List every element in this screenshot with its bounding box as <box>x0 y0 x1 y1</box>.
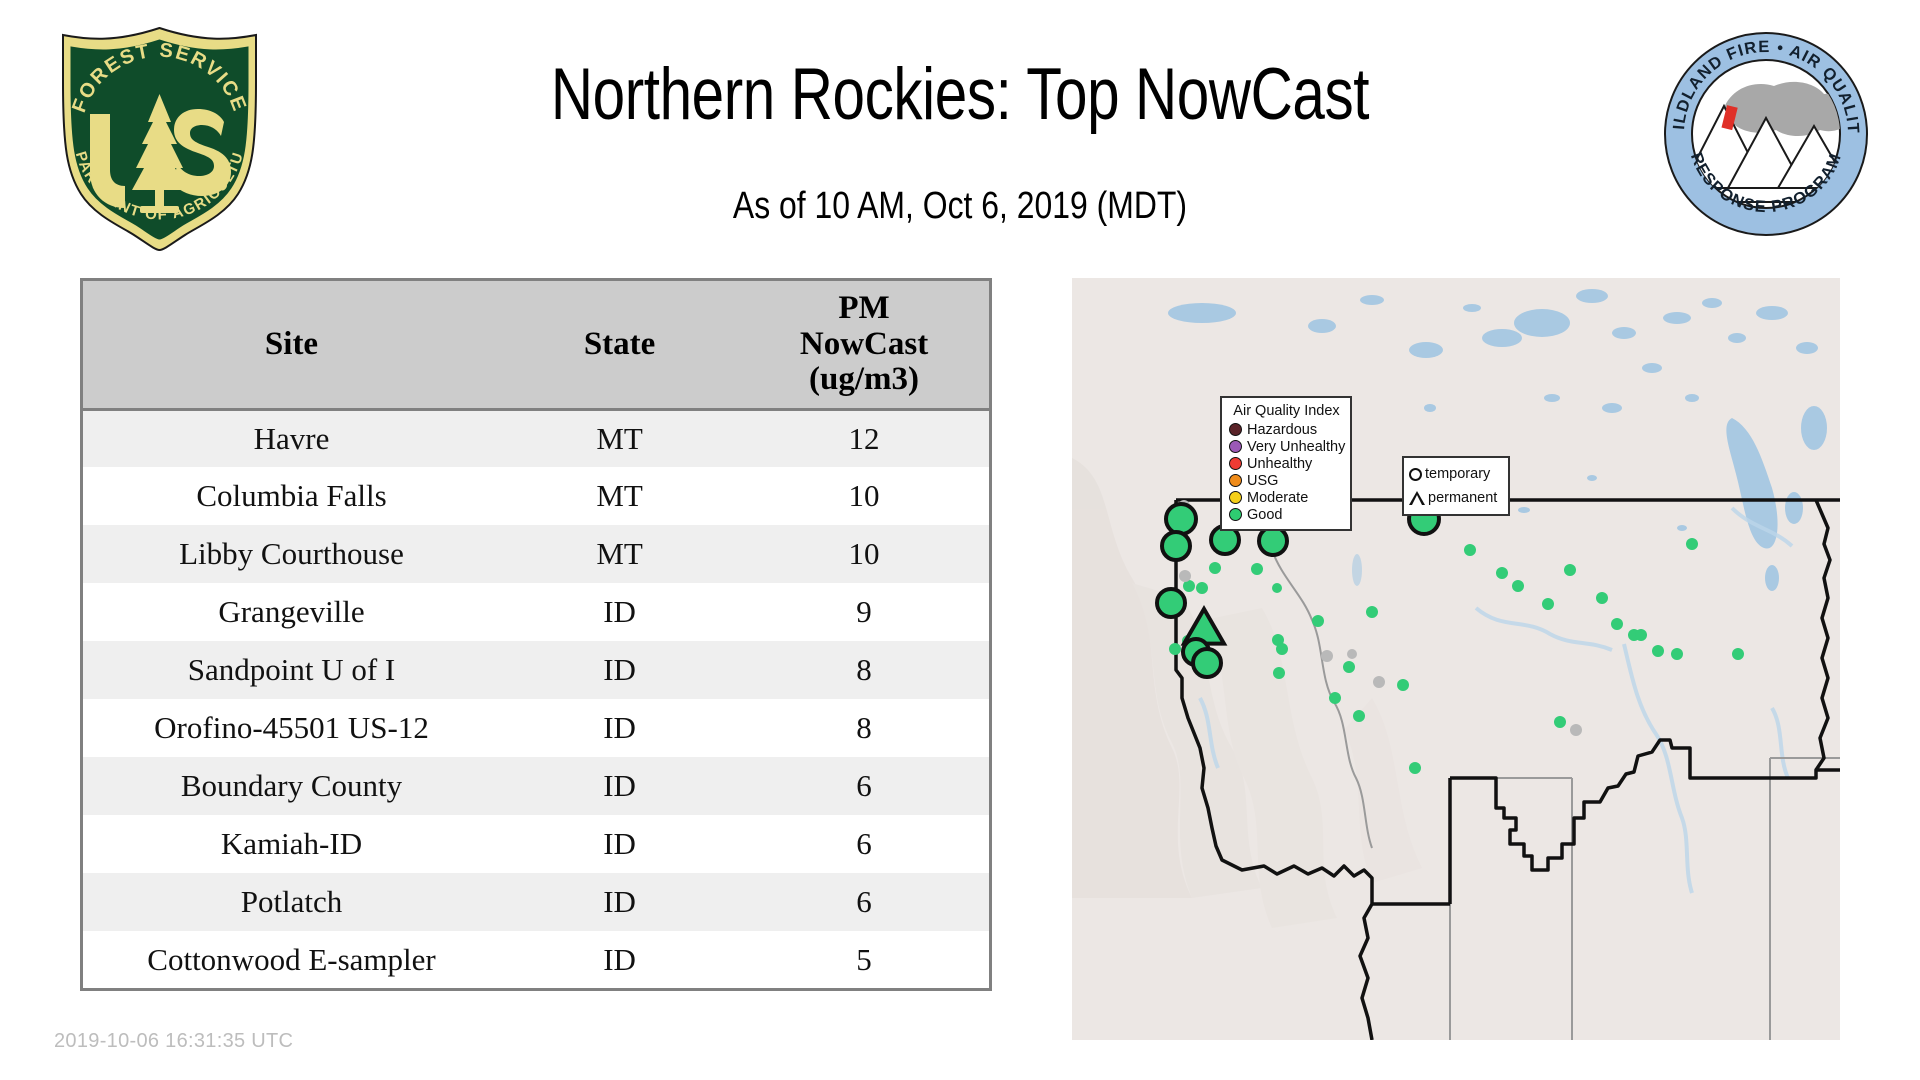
monitor-dot[interactable] <box>1397 679 1409 691</box>
aqi-legend-label: Very Unhealthy <box>1247 439 1345 455</box>
monitor-dot[interactable] <box>1512 580 1524 592</box>
legend-row-permanent: permanent <box>1409 486 1503 510</box>
permanent-monitor-icon <box>1409 491 1425 505</box>
cell-pm-nowcast: 8 <box>739 641 990 699</box>
monitor-dot[interactable] <box>1596 592 1608 604</box>
table-row[interactable]: Boundary CountyID6 <box>82 757 991 815</box>
legend-label-permanent: permanent <box>1428 490 1497 506</box>
monitor-dot[interactable] <box>1343 661 1355 673</box>
legend-row-temporary: temporary <box>1409 462 1503 486</box>
monitor-dot[interactable] <box>1732 648 1744 660</box>
monitor-type-legend: temporary permanent <box>1402 456 1510 516</box>
page-title: Northern Rockies: Top NowCast <box>432 58 1488 132</box>
temporary-monitor-marker[interactable] <box>1259 527 1287 555</box>
aqi-legend-row: Very Unhealthy <box>1229 438 1344 455</box>
aqi-legend-row: Unhealthy <box>1229 455 1344 472</box>
cell-state: ID <box>500 815 739 873</box>
cell-pm-nowcast: 10 <box>739 467 990 525</box>
us-forest-service-shield-logo: FOREST SERVICE DEPARTMENT OF AGRICULTURE <box>52 22 267 254</box>
cell-pm-nowcast: 5 <box>739 931 990 989</box>
monitor-map[interactable]: Air Quality Index HazardousVery Unhealth… <box>1072 278 1840 1040</box>
monitor-dot[interactable] <box>1196 582 1208 594</box>
cell-pm-nowcast: 6 <box>739 757 990 815</box>
temporary-monitor-marker[interactable] <box>1193 649 1221 677</box>
column-header-pm-nowcast[interactable]: PM NowCast (ug/m3) <box>739 280 990 410</box>
monitor-dot[interactable] <box>1273 667 1285 679</box>
aqi-legend-label: Unhealthy <box>1247 456 1312 472</box>
monitor-dot[interactable] <box>1373 676 1385 688</box>
cell-site: Grangeville <box>82 583 501 641</box>
monitor-dot[interactable] <box>1321 650 1333 662</box>
cell-pm-nowcast: 8 <box>739 699 990 757</box>
cell-site: Havre <box>82 409 501 467</box>
aqi-legend-label: USG <box>1247 473 1278 489</box>
monitor-dot[interactable] <box>1542 598 1554 610</box>
table-row[interactable]: Kamiah-IDID6 <box>82 815 991 873</box>
aqi-legend-label: Hazardous <box>1247 422 1317 438</box>
table-row[interactable]: Orofino-45501 US-12ID8 <box>82 699 991 757</box>
cell-site: Sandpoint U of I <box>82 641 501 699</box>
table-row[interactable]: Sandpoint U of IID8 <box>82 641 991 699</box>
monitor-dot[interactable] <box>1366 606 1378 618</box>
aqi-legend-title: Air Quality Index <box>1229 403 1344 419</box>
temporary-monitor-marker[interactable] <box>1166 504 1196 534</box>
column-header-site[interactable]: Site <box>82 280 501 410</box>
cell-site: Kamiah-ID <box>82 815 501 873</box>
generated-timestamp: 2019-10-06 16:31:35 UTC <box>54 1030 293 1053</box>
table-row[interactable]: PotlatchID6 <box>82 873 991 931</box>
monitor-dot[interactable] <box>1554 716 1566 728</box>
aqi-swatch-icon <box>1229 474 1242 487</box>
cell-state: MT <box>500 467 739 525</box>
slide-canvas: FOREST SERVICE DEPARTMENT OF AGRICULTURE… <box>0 0 1920 1080</box>
monitor-dot[interactable] <box>1353 710 1365 722</box>
table-body: HavreMT12Columbia FallsMT10Libby Courtho… <box>82 409 991 989</box>
cell-state: ID <box>500 873 739 931</box>
cell-state: MT <box>500 525 739 583</box>
page-subtitle: As of 10 AM, Oct 6, 2019 (MDT) <box>406 185 1515 228</box>
monitor-dot[interactable] <box>1611 618 1623 630</box>
column-header-pm-line1: PM <box>838 290 889 326</box>
monitor-dot[interactable] <box>1276 643 1288 655</box>
table-row[interactable]: Libby CourthouseMT10 <box>82 525 991 583</box>
cell-site: Columbia Falls <box>82 467 501 525</box>
aqi-legend-row: Good <box>1229 506 1344 523</box>
monitor-dot[interactable] <box>1329 692 1341 704</box>
monitor-dot[interactable] <box>1312 615 1324 627</box>
monitor-dot[interactable] <box>1686 538 1698 550</box>
legend-label-temporary: temporary <box>1425 466 1490 482</box>
table-row[interactable]: HavreMT12 <box>82 409 991 467</box>
top-nowcast-table: Site State PM NowCast (ug/m3) HavreMT12C… <box>80 278 992 991</box>
cell-site: Libby Courthouse <box>82 525 501 583</box>
table-header-row: Site State PM NowCast (ug/m3) <box>82 280 991 410</box>
table-row[interactable]: Columbia FallsMT10 <box>82 467 991 525</box>
aqi-legend-row: Hazardous <box>1229 421 1344 438</box>
aqi-swatch-icon <box>1229 440 1242 453</box>
table-row[interactable]: Cottonwood E-samplerID5 <box>82 931 991 989</box>
monitor-dot[interactable] <box>1671 648 1683 660</box>
monitor-dot[interactable] <box>1347 649 1357 659</box>
temporary-monitor-marker[interactable] <box>1162 532 1190 560</box>
temporary-monitor-marker[interactable] <box>1157 589 1185 617</box>
monitor-dot[interactable] <box>1169 643 1181 655</box>
cell-pm-nowcast: 6 <box>739 815 990 873</box>
cell-state: ID <box>500 583 739 641</box>
aqi-legend-label: Moderate <box>1247 490 1308 506</box>
temporary-monitor-icon <box>1409 468 1422 481</box>
column-header-pm-line2: NowCast <box>800 326 928 362</box>
cell-site: Boundary County <box>82 757 501 815</box>
aqi-legend-row: Moderate <box>1229 489 1344 506</box>
monitor-dot[interactable] <box>1496 567 1508 579</box>
monitor-dot[interactable] <box>1409 762 1421 774</box>
monitor-dot[interactable] <box>1652 645 1664 657</box>
cell-state: MT <box>500 409 739 467</box>
monitor-dot[interactable] <box>1464 544 1476 556</box>
aqi-swatch-icon <box>1229 491 1242 504</box>
top-nowcast-table-container: Site State PM NowCast (ug/m3) HavreMT12C… <box>80 278 992 991</box>
monitor-dot[interactable] <box>1635 629 1647 641</box>
table-header: Site State PM NowCast (ug/m3) <box>82 280 991 410</box>
aqi-legend-label: Good <box>1247 507 1282 523</box>
cell-site: Potlatch <box>82 873 501 931</box>
cell-pm-nowcast: 6 <box>739 873 990 931</box>
monitor-dot[interactable] <box>1570 724 1582 736</box>
aqi-swatch-icon <box>1229 423 1242 436</box>
aqi-swatch-icon <box>1229 457 1242 470</box>
table-row[interactable]: GrangevilleID9 <box>82 583 991 641</box>
column-header-pm-line3: (ug/m3) <box>809 361 919 397</box>
wildland-fire-air-quality-response-program-logo: WILDLAND FIRE • AIR QUALITY RESPONSE PRO… <box>1662 30 1870 238</box>
aqi-swatch-icon <box>1229 508 1242 521</box>
cell-state: ID <box>500 699 739 757</box>
cell-state: ID <box>500 931 739 989</box>
cell-pm-nowcast: 12 <box>739 409 990 467</box>
monitor-dot[interactable] <box>1209 562 1221 574</box>
air-quality-index-legend: Air Quality Index HazardousVery Unhealth… <box>1220 396 1352 531</box>
cell-site: Orofino-45501 US-12 <box>82 699 501 757</box>
cell-state: ID <box>500 757 739 815</box>
cell-site: Cottonwood E-sampler <box>82 931 501 989</box>
monitor-dot[interactable] <box>1179 570 1191 582</box>
cell-pm-nowcast: 9 <box>739 583 990 641</box>
cell-pm-nowcast: 10 <box>739 525 990 583</box>
monitor-dot[interactable] <box>1272 583 1282 593</box>
aqi-legend-row: USG <box>1229 472 1344 489</box>
column-header-state[interactable]: State <box>500 280 739 410</box>
monitor-dot[interactable] <box>1251 563 1263 575</box>
monitor-dot[interactable] <box>1564 564 1576 576</box>
cell-state: ID <box>500 641 739 699</box>
